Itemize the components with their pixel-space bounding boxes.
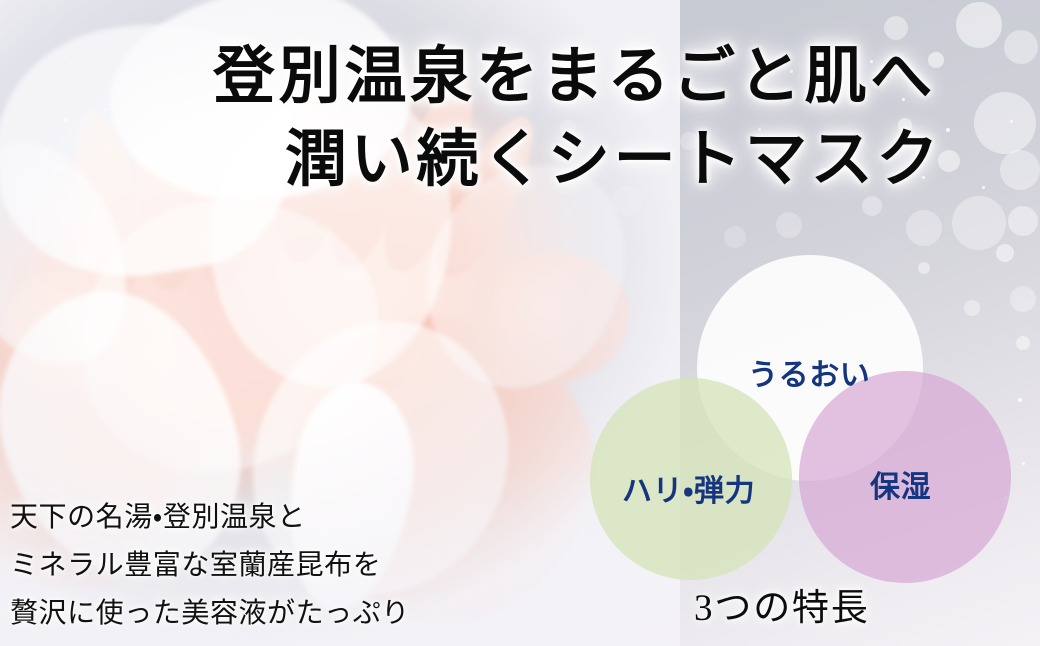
venn-label-firmness-elasticity: ハリ・弾力 bbox=[622, 466, 755, 510]
headline-line-1: 登別温泉をまるごと肌へ bbox=[213, 25, 936, 115]
venn-label-moisture: うるおい bbox=[748, 350, 870, 394]
lede-line-1: 天下の名湯・登別温泉と bbox=[10, 495, 306, 535]
venn-caption: 3つの特長 bbox=[694, 577, 870, 631]
lede-line-2: ミネラル豊富な室蘭産昆布を bbox=[10, 543, 381, 583]
banner-root: うるおい ハリ・弾力 保湿 登別温泉をまるごと肌へ 潤い続くシートマスク 天下の… bbox=[0, 0, 1040, 646]
venn-label-hydration: 保湿 bbox=[870, 462, 931, 506]
headline-line-2: 潤い続くシートマスク bbox=[285, 108, 942, 198]
lede-line-3: 贅沢に使った美容液がたっぷり bbox=[10, 591, 410, 631]
